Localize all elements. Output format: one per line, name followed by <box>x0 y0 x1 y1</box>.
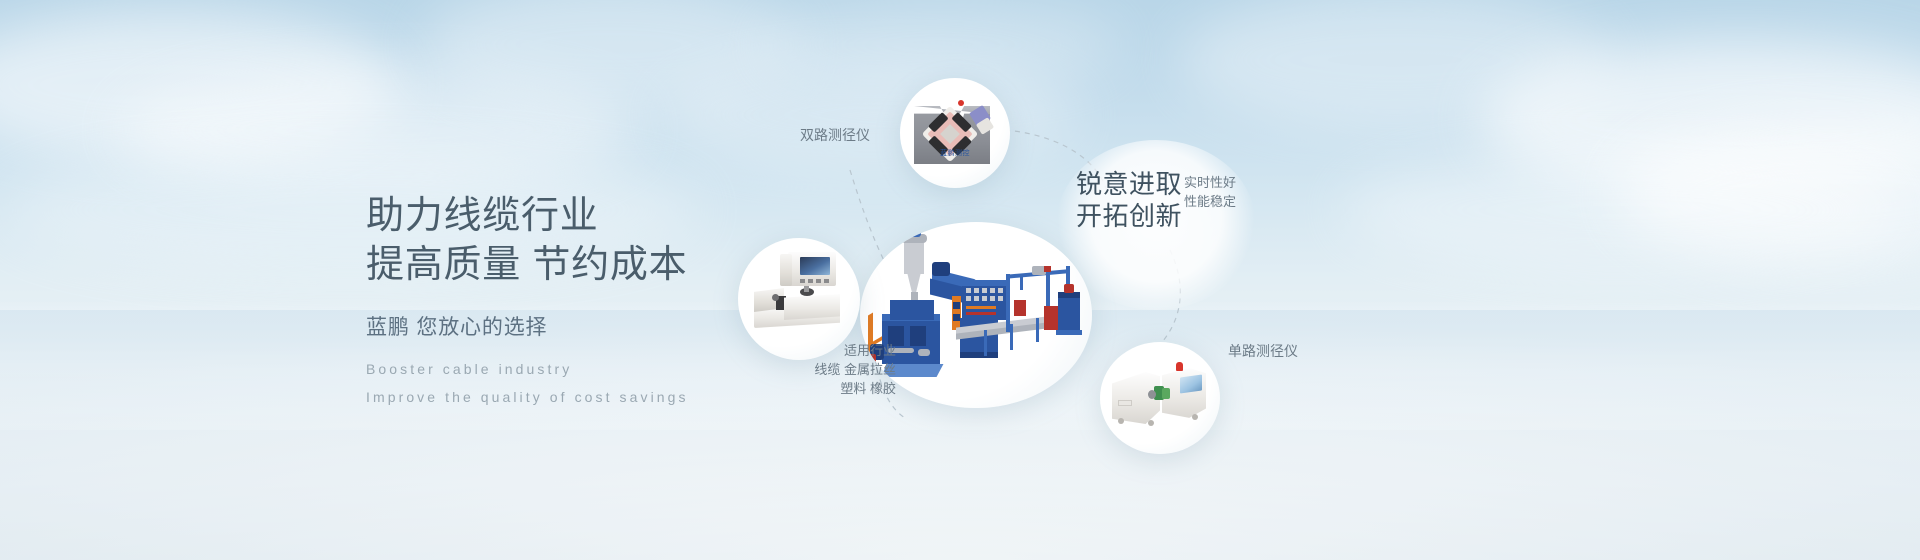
single-path-diameter-gauge-illustration <box>1100 342 1220 454</box>
cloud-decoration <box>120 70 640 190</box>
dual-gauge-bubble[interactable]: 蓝鹏测控 <box>900 78 1010 188</box>
callout-feature-stable: 性能稳定 <box>1184 191 1236 212</box>
callout-dual-gauge: 双路测径仪 <box>800 124 870 148</box>
cloud-decoration <box>0 10 400 160</box>
hero-banner: 助力线缆行业 提高质量 节约成本 蓝鹏 您放心的选择 Booster cable… <box>0 0 1920 560</box>
callout-industries-line-2: 塑料 橡胶 <box>746 378 896 399</box>
slogan-line-2: 开拓创新 <box>1076 198 1182 235</box>
single-gauge-bubble[interactable] <box>1100 342 1220 454</box>
device-brand-label: 蓝鹏测控 <box>900 148 1010 158</box>
product-composition: 蓝鹏测控 <box>700 0 1920 560</box>
callout-single-gauge: 单路测径仪 <box>1228 340 1298 364</box>
dual-path-diameter-gauge-illustration: 蓝鹏测控 <box>900 78 1010 188</box>
